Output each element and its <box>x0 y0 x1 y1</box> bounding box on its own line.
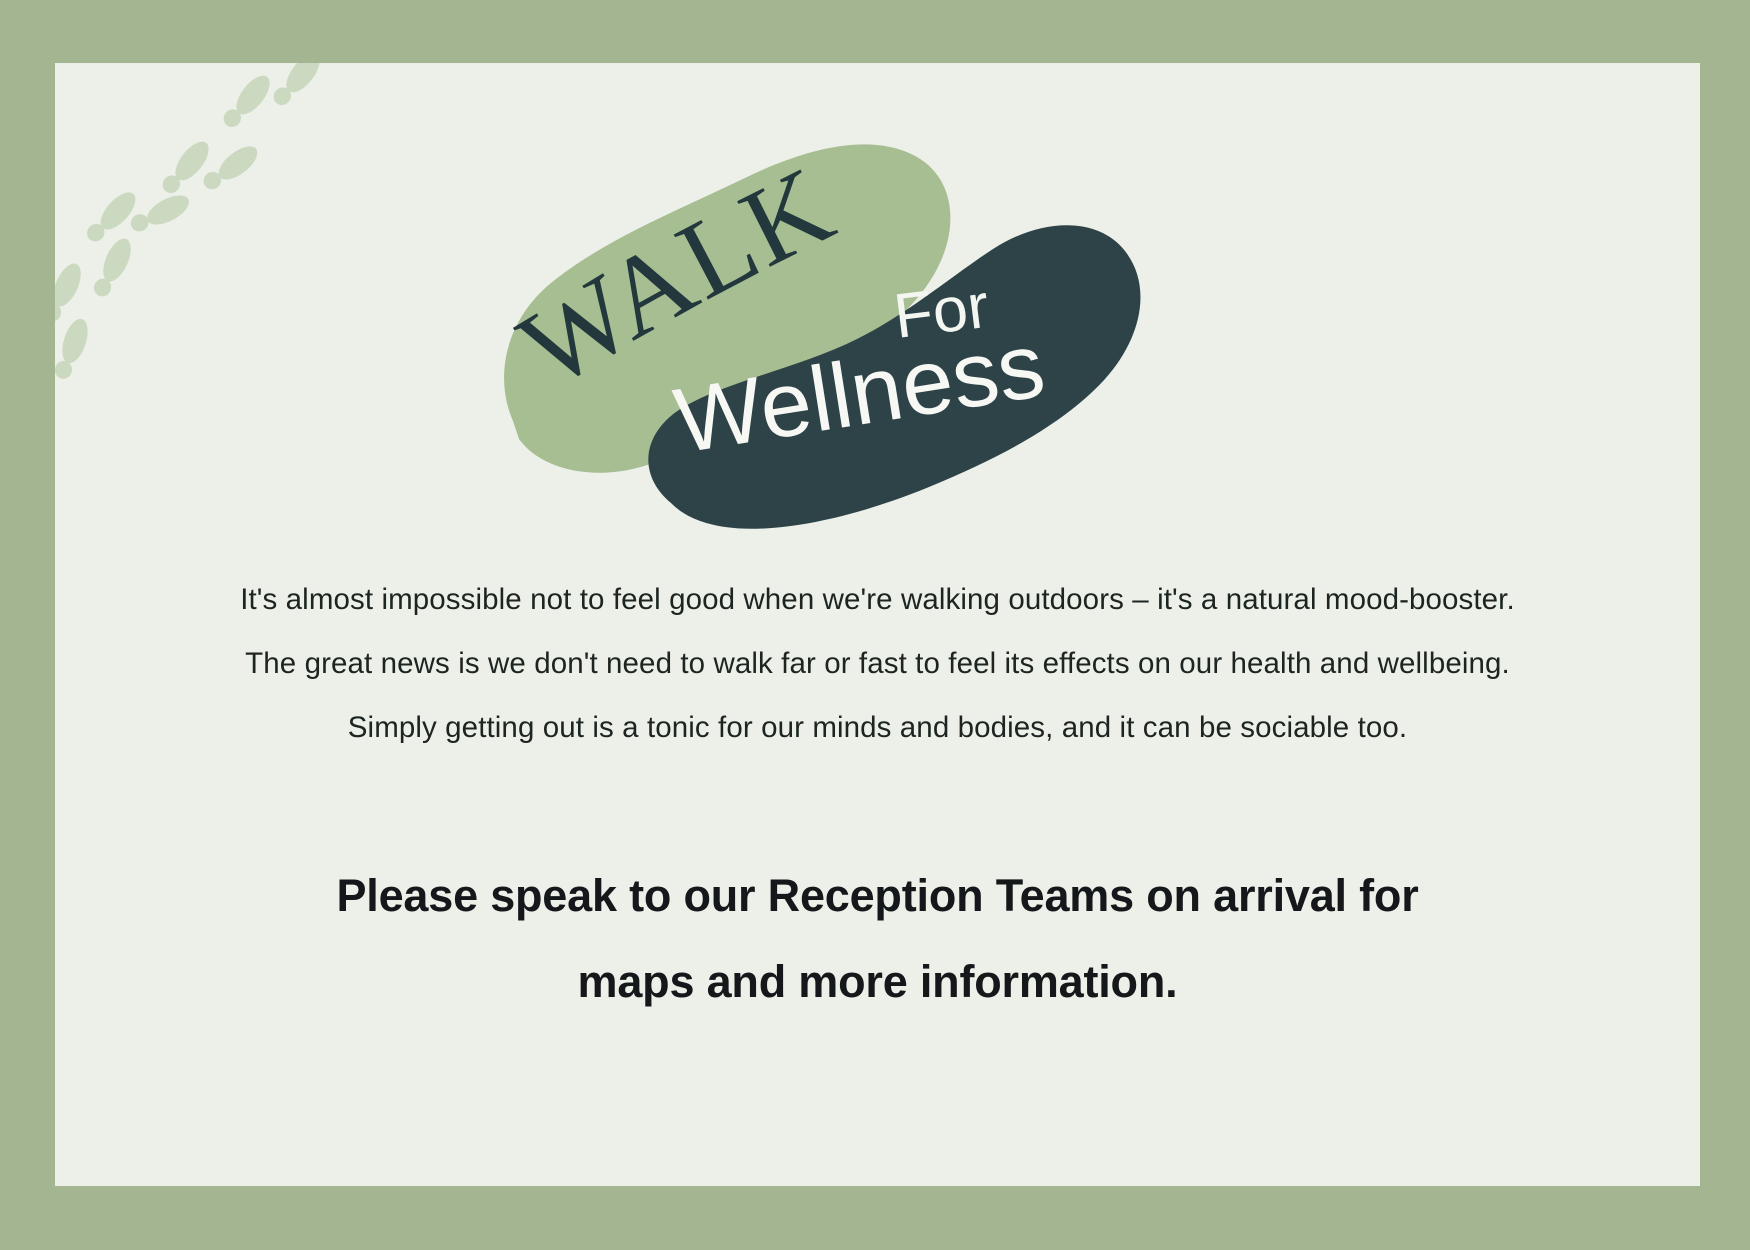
poster: WALK For Wellness It's almost impossible… <box>0 0 1750 1250</box>
shoe-sole-icon <box>213 140 263 186</box>
shoe-sole-icon <box>143 189 194 230</box>
shoe-sole-icon <box>230 70 276 120</box>
walk-for-wellness-logo: WALK For Wellness <box>485 123 1215 553</box>
shoe-heel-icon <box>270 84 294 109</box>
cta-line-1: Please speak to our Reception Teams on a… <box>55 853 1700 939</box>
body-copy: It's almost impossible not to feel good … <box>55 568 1700 760</box>
shoe-heel-icon <box>55 359 74 381</box>
call-to-action: Please speak to our Reception Teams on a… <box>55 853 1700 1025</box>
shoe-heel-icon <box>55 301 64 324</box>
shoe-sole-icon <box>55 260 86 311</box>
footprint-trail-decoration <box>55 63 385 393</box>
body-line-3: Simply getting out is a tonic for our mi… <box>55 696 1700 760</box>
footprint-shapes <box>55 63 326 382</box>
shoe-heel-icon <box>91 276 114 299</box>
body-line-1: It's almost impossible not to feel good … <box>55 568 1700 632</box>
body-line-2: The great news is we don't need to walk … <box>55 632 1700 696</box>
shoe-heel-icon <box>200 168 225 192</box>
poster-panel: WALK For Wellness It's almost impossible… <box>55 63 1700 1186</box>
cta-line-2: maps and more information. <box>55 939 1700 1025</box>
shoe-heel-icon <box>159 172 183 197</box>
shoe-sole-icon <box>98 235 137 286</box>
shoe-heel-icon <box>128 211 152 234</box>
shoe-sole-icon <box>280 63 326 98</box>
shoe-sole-icon <box>57 316 92 367</box>
shoe-sole-icon <box>169 136 215 186</box>
shoe-heel-icon <box>83 220 108 245</box>
shoe-sole-icon <box>94 187 141 236</box>
shoe-heel-icon <box>220 106 244 131</box>
